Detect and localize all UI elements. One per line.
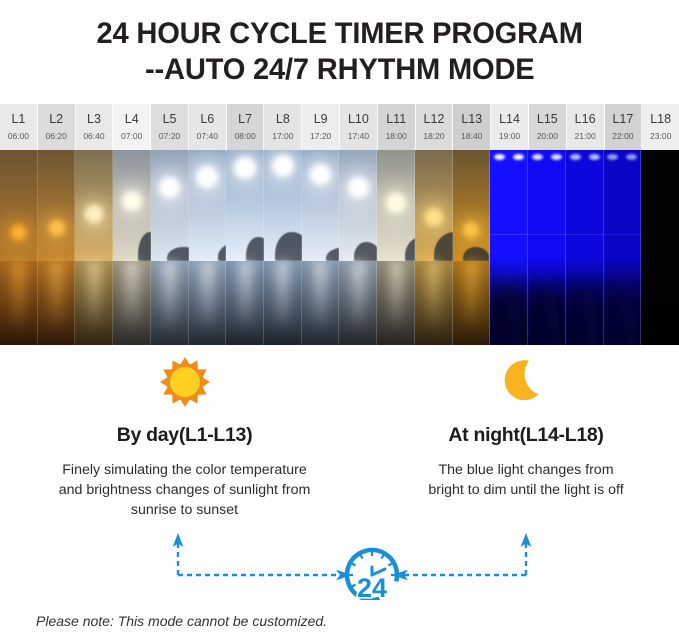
day-body-line: and brightness changes of sunlight from xyxy=(59,480,311,500)
strip-panel-l16 xyxy=(566,150,604,345)
strip-panel-l9 xyxy=(302,150,340,345)
panel-sky xyxy=(0,150,38,261)
day-body-line: Finely simulating the color temperature xyxy=(59,460,311,480)
strip-panel-l13 xyxy=(453,150,491,345)
left-flow-arrow xyxy=(178,543,340,575)
panel-plants xyxy=(566,257,604,345)
panel-sun-reflection xyxy=(87,261,102,345)
panel-sea xyxy=(226,261,264,345)
strip-panel-l2 xyxy=(38,150,76,345)
timeline-label-l6: L607:40 xyxy=(189,104,227,150)
timeline-label-l2: L206:20 xyxy=(38,104,76,150)
clock-24-icon: 24 xyxy=(340,543,403,600)
panel-sky xyxy=(415,150,453,261)
night-heading: At night(L14-L18) xyxy=(448,424,603,447)
panel-led-bar xyxy=(528,150,566,163)
timeline-label-id: L14 xyxy=(499,112,520,127)
timeline-label-l13: L1318:40 xyxy=(453,104,491,150)
panel-sun xyxy=(196,166,218,188)
panel-sun xyxy=(122,191,142,211)
timeline-label-l12: L1218:20 xyxy=(416,104,454,150)
panel-night-body xyxy=(566,150,604,345)
panel-sun xyxy=(425,208,443,226)
timeline-label-l8: L817:00 xyxy=(264,104,302,150)
panel-sea xyxy=(339,261,377,345)
panel-led xyxy=(570,154,581,160)
panel-rock xyxy=(405,237,415,261)
timeline-label-l16: L1621:00 xyxy=(567,104,605,150)
timeline-label-l10: L1017:40 xyxy=(340,104,378,150)
panel-sun-reflection xyxy=(124,261,139,345)
strip-panel-l1 xyxy=(0,150,38,345)
page-title: 24 HOUR CYCLE TIMER PROGRAM --AUTO 24/7 … xyxy=(0,0,679,100)
timeline-label-l17: L1722:00 xyxy=(605,104,643,150)
panel-night-body xyxy=(528,150,566,345)
timeline-label-time: 07:40 xyxy=(197,130,218,142)
timeline-label-id: L18 xyxy=(650,112,671,127)
timeline-label-id: L10 xyxy=(348,112,369,127)
strip-panel-l7 xyxy=(226,150,264,345)
timeline-label-id: L12 xyxy=(424,112,445,127)
panel-sun xyxy=(272,155,294,177)
panel-rock xyxy=(167,247,189,261)
panel-night-body xyxy=(604,150,642,345)
panel-rock xyxy=(354,242,377,261)
timeline-label-id: L2 xyxy=(49,112,63,127)
strip-panel-l6 xyxy=(189,150,227,345)
panel-sea xyxy=(189,261,227,345)
timeline-label-time: 08:00 xyxy=(234,130,255,142)
timeline-label-time: 18:20 xyxy=(423,130,444,142)
timeline-label-l3: L306:40 xyxy=(76,104,114,150)
timeline-label-time: 23:00 xyxy=(650,130,671,142)
night-body-line: The blue light changes from xyxy=(428,460,623,480)
panel-waterline xyxy=(490,234,528,235)
panel-sea xyxy=(302,261,340,345)
panel-led xyxy=(589,154,600,160)
timeline-label-id: L13 xyxy=(461,112,482,127)
timeline-label-id: L6 xyxy=(200,112,214,127)
panel-sky xyxy=(339,150,377,261)
timeline-label-l15: L1520:00 xyxy=(529,104,567,150)
panel-waterline xyxy=(604,234,642,235)
panel-sea xyxy=(75,261,113,345)
light-cycle-strip xyxy=(0,150,679,345)
timeline-label-l4: L407:00 xyxy=(113,104,151,150)
panel-sea xyxy=(38,261,76,345)
timeline-label-id: L15 xyxy=(537,112,558,127)
timeline-label-time: 17:00 xyxy=(272,130,293,142)
strip-panel-l10 xyxy=(339,150,377,345)
timeline-label-time: 07:00 xyxy=(121,130,142,142)
timeline-label-id: L17 xyxy=(612,112,633,127)
timeline-label-time: 18:00 xyxy=(386,130,407,142)
timeline-label-id: L9 xyxy=(314,112,328,127)
panel-waterline xyxy=(528,234,566,235)
panel-sun-reflection xyxy=(389,261,404,345)
panel-plants xyxy=(528,257,566,345)
timeline-label-l14: L1419:00 xyxy=(491,104,529,150)
timeline-label-id: L4 xyxy=(125,112,139,127)
panel-plants xyxy=(490,257,528,345)
timeline-label-id: L5 xyxy=(163,112,177,127)
strip-panel-l18 xyxy=(641,150,679,345)
timeline-label-id: L1 xyxy=(11,112,25,127)
panel-led xyxy=(551,154,562,160)
panel-led xyxy=(626,154,637,160)
cycle-flow-diagram: 24 xyxy=(0,525,679,600)
moon-icon xyxy=(503,354,549,410)
timeline-label-time: 06:20 xyxy=(46,130,67,142)
timeline-label-time: 20:00 xyxy=(537,130,558,142)
panel-sea xyxy=(264,261,302,345)
panel-sea xyxy=(0,261,38,345)
timeline-label-l18: L1823:00 xyxy=(642,104,679,150)
night-column: At night(L14-L18) The blue light changes… xyxy=(373,348,679,500)
right-flow-arrow xyxy=(404,543,526,575)
timeline-label-id: L11 xyxy=(386,112,406,127)
timeline-label-id: L7 xyxy=(238,112,252,127)
panel-plants xyxy=(604,257,642,345)
strip-panel-l3 xyxy=(75,150,113,345)
panel-led-bar xyxy=(604,150,642,163)
night-body-line: bright to dim until the light is off xyxy=(428,480,623,500)
panel-sea xyxy=(151,261,189,345)
panel-waterline xyxy=(566,234,604,235)
panel-rock xyxy=(463,247,489,261)
timeline-label-time: 21:00 xyxy=(574,130,595,142)
panel-sun-reflection xyxy=(238,261,253,345)
panel-rock xyxy=(326,247,340,261)
timeline-label-id: L16 xyxy=(575,112,596,127)
panel-night-body xyxy=(490,150,528,345)
day-body: Finely simulating the color temperature … xyxy=(59,460,311,520)
panel-led xyxy=(513,154,524,160)
timeline-label-time: 06:40 xyxy=(83,130,104,142)
timeline-label-time: 07:20 xyxy=(159,130,180,142)
panel-rock xyxy=(138,232,151,261)
timeline-label-l9: L917:20 xyxy=(302,104,340,150)
strip-panel-l4 xyxy=(113,150,151,345)
panel-sun-reflection xyxy=(49,261,64,345)
panel-sun-reflection xyxy=(426,261,441,345)
day-body-line: sunrise to sunset xyxy=(59,500,311,520)
strip-panel-l5 xyxy=(151,150,189,345)
day-heading: By day(L1-L13) xyxy=(117,424,253,447)
day-column: By day(L1-L13) Finely simulating the col… xyxy=(0,348,369,520)
panel-sun-reflection xyxy=(200,261,215,345)
panel-sea xyxy=(377,261,415,345)
panel-sun xyxy=(310,164,331,185)
timeline-label-l5: L507:20 xyxy=(151,104,189,150)
panel-rock xyxy=(275,232,302,261)
panel-led-bar xyxy=(490,150,528,163)
panel-sky xyxy=(189,150,227,261)
panel-sea xyxy=(453,261,491,345)
timeline-label-time: 06:00 xyxy=(8,130,29,142)
timeline-label-id: L3 xyxy=(87,112,101,127)
sun-icon xyxy=(159,354,211,410)
panel-sky xyxy=(377,150,415,261)
note-text: Please note: This mode cannot be customi… xyxy=(36,613,327,629)
panel-sky xyxy=(453,150,491,261)
panel-sun xyxy=(49,220,65,236)
strip-panel-l17 xyxy=(604,150,642,345)
timeline-label-l7: L708:00 xyxy=(227,104,265,150)
panel-sky xyxy=(302,150,340,261)
timeline-label-id: L8 xyxy=(276,112,290,127)
panel-sun-reflection xyxy=(313,261,328,345)
panel-sun xyxy=(348,177,369,198)
timeline-label-row: L106:00L206:20L306:40L407:00L507:20L607:… xyxy=(0,104,679,150)
panel-sky xyxy=(75,150,113,261)
timeline-label-l1: L106:00 xyxy=(0,104,38,150)
timeline-label-time: 19:00 xyxy=(499,130,520,142)
strip-panel-l11 xyxy=(377,150,415,345)
panel-sun-reflection xyxy=(162,261,177,345)
title-line-1: 24 HOUR CYCLE TIMER PROGRAM xyxy=(96,16,582,52)
timeline-label-l11: L1118:00 xyxy=(378,104,416,150)
panel-night-body xyxy=(641,150,679,345)
timeline-label-time: 17:40 xyxy=(348,130,369,142)
night-body: The blue light changes from bright to di… xyxy=(428,460,623,500)
timeline-label-time: 18:40 xyxy=(461,130,482,142)
panel-sun xyxy=(234,157,256,179)
clock-24-label: 24 xyxy=(357,573,387,600)
strip-panel-l8 xyxy=(264,150,302,345)
panel-sky xyxy=(226,150,264,261)
panel-led xyxy=(494,154,505,160)
panel-sky xyxy=(38,150,76,261)
strip-panel-l14 xyxy=(490,150,528,345)
panel-sky xyxy=(113,150,151,261)
panel-rock xyxy=(246,237,264,261)
panel-sky xyxy=(151,150,189,261)
panel-led xyxy=(607,154,618,160)
panel-sun-reflection xyxy=(11,261,26,345)
panel-sun-reflection xyxy=(351,261,366,345)
strip-panel-l12 xyxy=(415,150,453,345)
panel-led xyxy=(532,154,543,160)
panel-sun-reflection xyxy=(464,261,479,345)
panel-sea xyxy=(113,261,151,345)
infographic-page: 24 HOUR CYCLE TIMER PROGRAM --AUTO 24/7 … xyxy=(0,0,679,636)
timeline-label-time: 22:00 xyxy=(612,130,633,142)
panel-led-bar xyxy=(566,150,604,163)
strip-panel-l15 xyxy=(528,150,566,345)
panel-sky xyxy=(264,150,302,261)
timeline-label-time: 17:20 xyxy=(310,130,331,142)
panel-sea xyxy=(415,261,453,345)
panel-rock xyxy=(218,242,227,261)
panel-sun-reflection xyxy=(275,261,290,345)
title-line-2: --AUTO 24/7 RHYTHM MODE xyxy=(145,52,535,88)
